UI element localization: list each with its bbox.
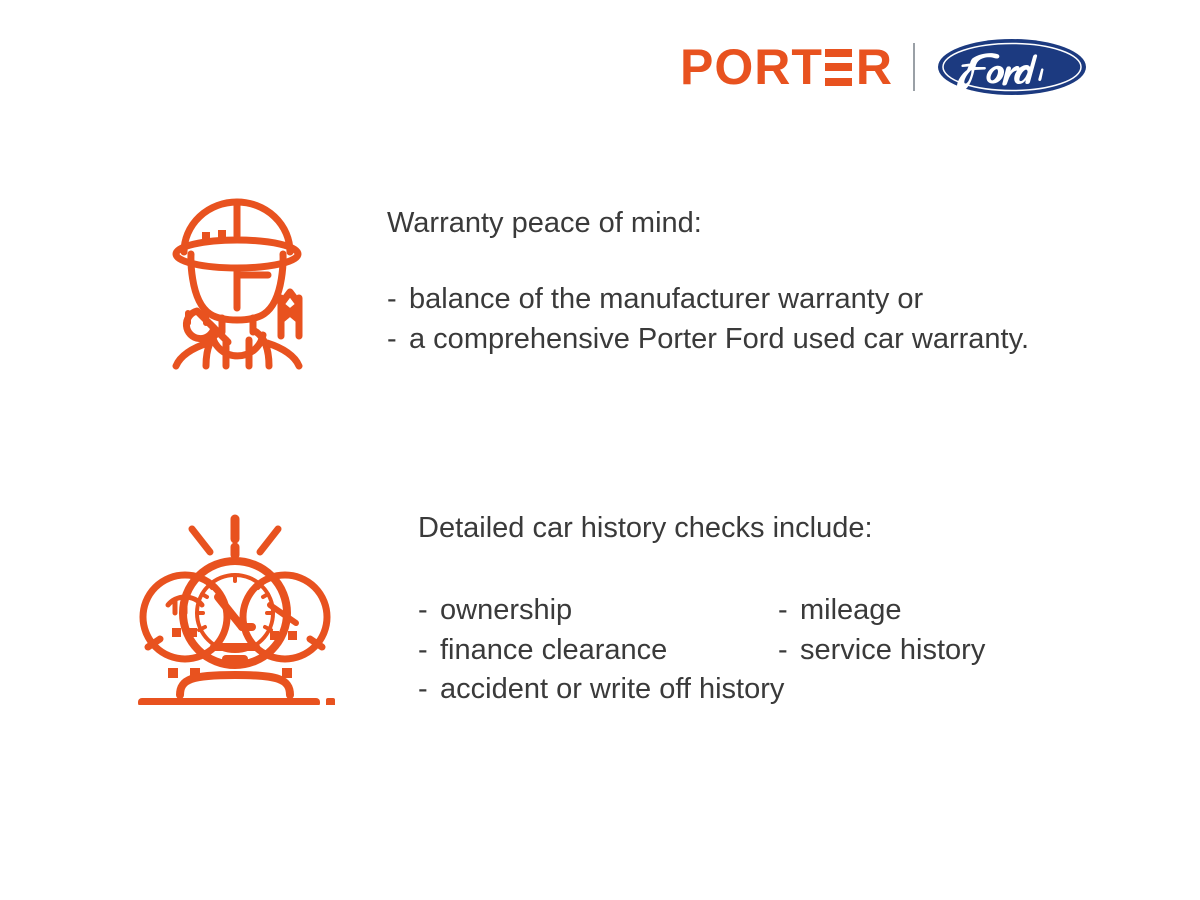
bullet-dash: - (418, 591, 440, 631)
warranty-heading: Warranty peace of mind: (387, 208, 1029, 240)
bullet-label: service history (800, 631, 985, 671)
list-item: - a comprehensive Porter Ford used car w… (387, 320, 1029, 360)
warranty-section: Warranty peace of mind: - balance of the… (150, 180, 1029, 375)
brand-header: POR T R (680, 34, 1087, 100)
bullet-columns-row-1: - ownership - finance clearance - mileag… (418, 591, 985, 670)
bullet-label: mileage (800, 591, 902, 631)
list-item: - finance clearance (418, 631, 778, 671)
list-item: - balance of the manufacturer warranty o… (387, 280, 1029, 320)
mechanic-icon (150, 180, 325, 375)
porter-logo-text-r: R (856, 43, 893, 91)
bullet-dash: - (387, 280, 409, 320)
porter-logo-text-t: T (791, 43, 823, 91)
bullet-dash: - (387, 320, 409, 360)
bullet-dash: - (778, 591, 800, 631)
bullet-column-right-1: - mileage - service history (778, 591, 985, 670)
bullet-dash: - (778, 631, 800, 671)
bullet-dash: - (418, 670, 440, 710)
bullet-column-left-1: - ownership - finance clearance (418, 591, 778, 670)
list-item: - ownership (418, 591, 778, 631)
porter-logo: POR T R (680, 43, 893, 91)
warranty-bullet-list: - balance of the manufacturer warranty o… (387, 280, 1029, 359)
bullet-label: balance of the manufacturer warranty or (409, 280, 923, 320)
bullet-label: a comprehensive Porter Ford used car war… (409, 320, 1029, 360)
porter-logo-stylized-e (825, 49, 852, 86)
list-item: - accident or write off history (418, 670, 985, 710)
bullet-label: ownership (440, 591, 572, 631)
bullet-dash: - (418, 631, 440, 671)
ford-logo (937, 38, 1087, 96)
list-item: - mileage (778, 591, 985, 631)
list-item: - service history (778, 631, 985, 671)
warranty-text: Warranty peace of mind: - balance of the… (387, 180, 1029, 359)
car-dashboard-gauges-icon (130, 505, 340, 710)
car-history-section: Detailed car history checks include: - o… (130, 505, 985, 710)
bullet-label: accident or write off history (440, 670, 784, 710)
car-history-text: Detailed car history checks include: - o… (418, 505, 985, 710)
logo-divider (913, 43, 915, 91)
porter-logo-text-por: POR (680, 43, 791, 91)
car-history-bullet-list: - ownership - finance clearance - mileag… (418, 591, 985, 710)
bullet-label: finance clearance (440, 631, 667, 671)
car-history-heading: Detailed car history checks include: (418, 513, 985, 545)
